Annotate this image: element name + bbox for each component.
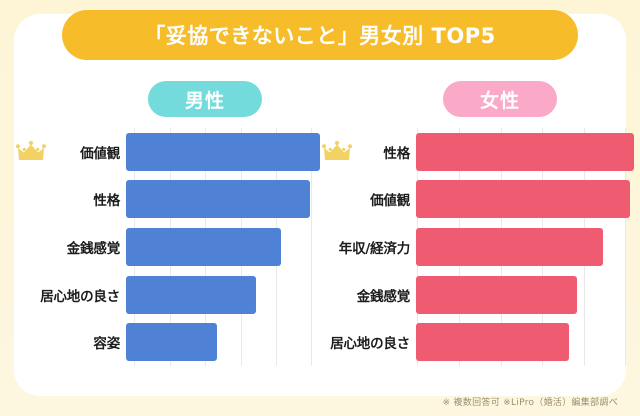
category-label: 性格 [93,189,120,209]
bar-row: 価値観 [322,176,634,224]
category-label: 居心地の良さ [330,332,410,352]
bar-track [126,271,320,319]
footnote: ※ 複数回答可 ※LiPro（婚活）編集部調べ [443,395,619,408]
page-title: 「妥協できないこと」男女別 TOP5 [144,20,496,50]
bar-row: 居心地の良さ [322,318,634,366]
bar [416,180,630,218]
category-label: 年収/経済力 [339,237,410,257]
bar [126,180,310,218]
category-label: 金銭感覚 [357,285,410,305]
infographic-canvas: 「妥協できないこと」男女別 TOP5 男性 女性 価値観性格金銭感覚居心地の良さ… [0,0,640,416]
category-label: 価値観 [370,189,410,209]
category-label-cell: 金銭感覚 [322,271,416,319]
category-label: 容姿 [93,332,120,352]
bar-track [416,223,634,271]
bar-row: 金銭感覚 [8,223,320,271]
legend-pill-female: 女性 [443,81,557,117]
legend-label-female: 女性 [480,86,520,113]
bar-row: 金銭感覚 [322,271,634,319]
category-label: 性格 [383,142,410,162]
bar-track [416,271,634,319]
category-label-cell: 性格 [8,176,126,224]
crown-icon [322,141,352,163]
title-banner: 「妥協できないこと」男女別 TOP5 [62,10,578,60]
category-label-cell: 価値観 [322,176,416,224]
bar-track [126,318,320,366]
legend-label-male: 男性 [185,86,225,113]
bar-row: 性格 [8,176,320,224]
category-label: 金銭感覚 [67,237,120,257]
category-label-cell: 金銭感覚 [8,223,126,271]
bar [416,228,603,266]
bar-rows-male: 価値観性格金銭感覚居心地の良さ容姿 [8,128,320,366]
bar [126,133,320,171]
bar-track [416,128,634,176]
bar [126,228,281,266]
bar-rows-female: 性格価値観年収/経済力金銭感覚居心地の良さ [322,128,634,366]
bar-track [416,318,634,366]
bar [126,323,217,361]
category-label-cell: 年収/経済力 [322,223,416,271]
category-label-cell: 居心地の良さ [8,271,126,319]
bar [416,323,569,361]
bar-row: 価値観 [8,128,320,176]
bar-track [126,223,320,271]
bar [416,133,634,171]
category-label-cell: 性格 [322,128,416,176]
category-label: 価値観 [80,142,120,162]
bar-track [126,176,320,224]
bar-row: 容姿 [8,318,320,366]
bar-track [126,128,320,176]
chart-panel-male: 価値観性格金銭感覚居心地の良さ容姿 [8,128,320,366]
category-label-cell: 容姿 [8,318,126,366]
category-label: 居心地の良さ [40,285,120,305]
chart-panel-female: 性格価値観年収/経済力金銭感覚居心地の良さ [322,128,634,366]
bar-row: 居心地の良さ [8,271,320,319]
bar [416,276,577,314]
category-label-cell: 価値観 [8,128,126,176]
legend-pill-male: 男性 [148,81,262,117]
bar-row: 性格 [322,128,634,176]
crown-icon [16,141,46,163]
bar-track [416,176,634,224]
bar-row: 年収/経済力 [322,223,634,271]
category-label-cell: 居心地の良さ [322,318,416,366]
bar [126,276,256,314]
